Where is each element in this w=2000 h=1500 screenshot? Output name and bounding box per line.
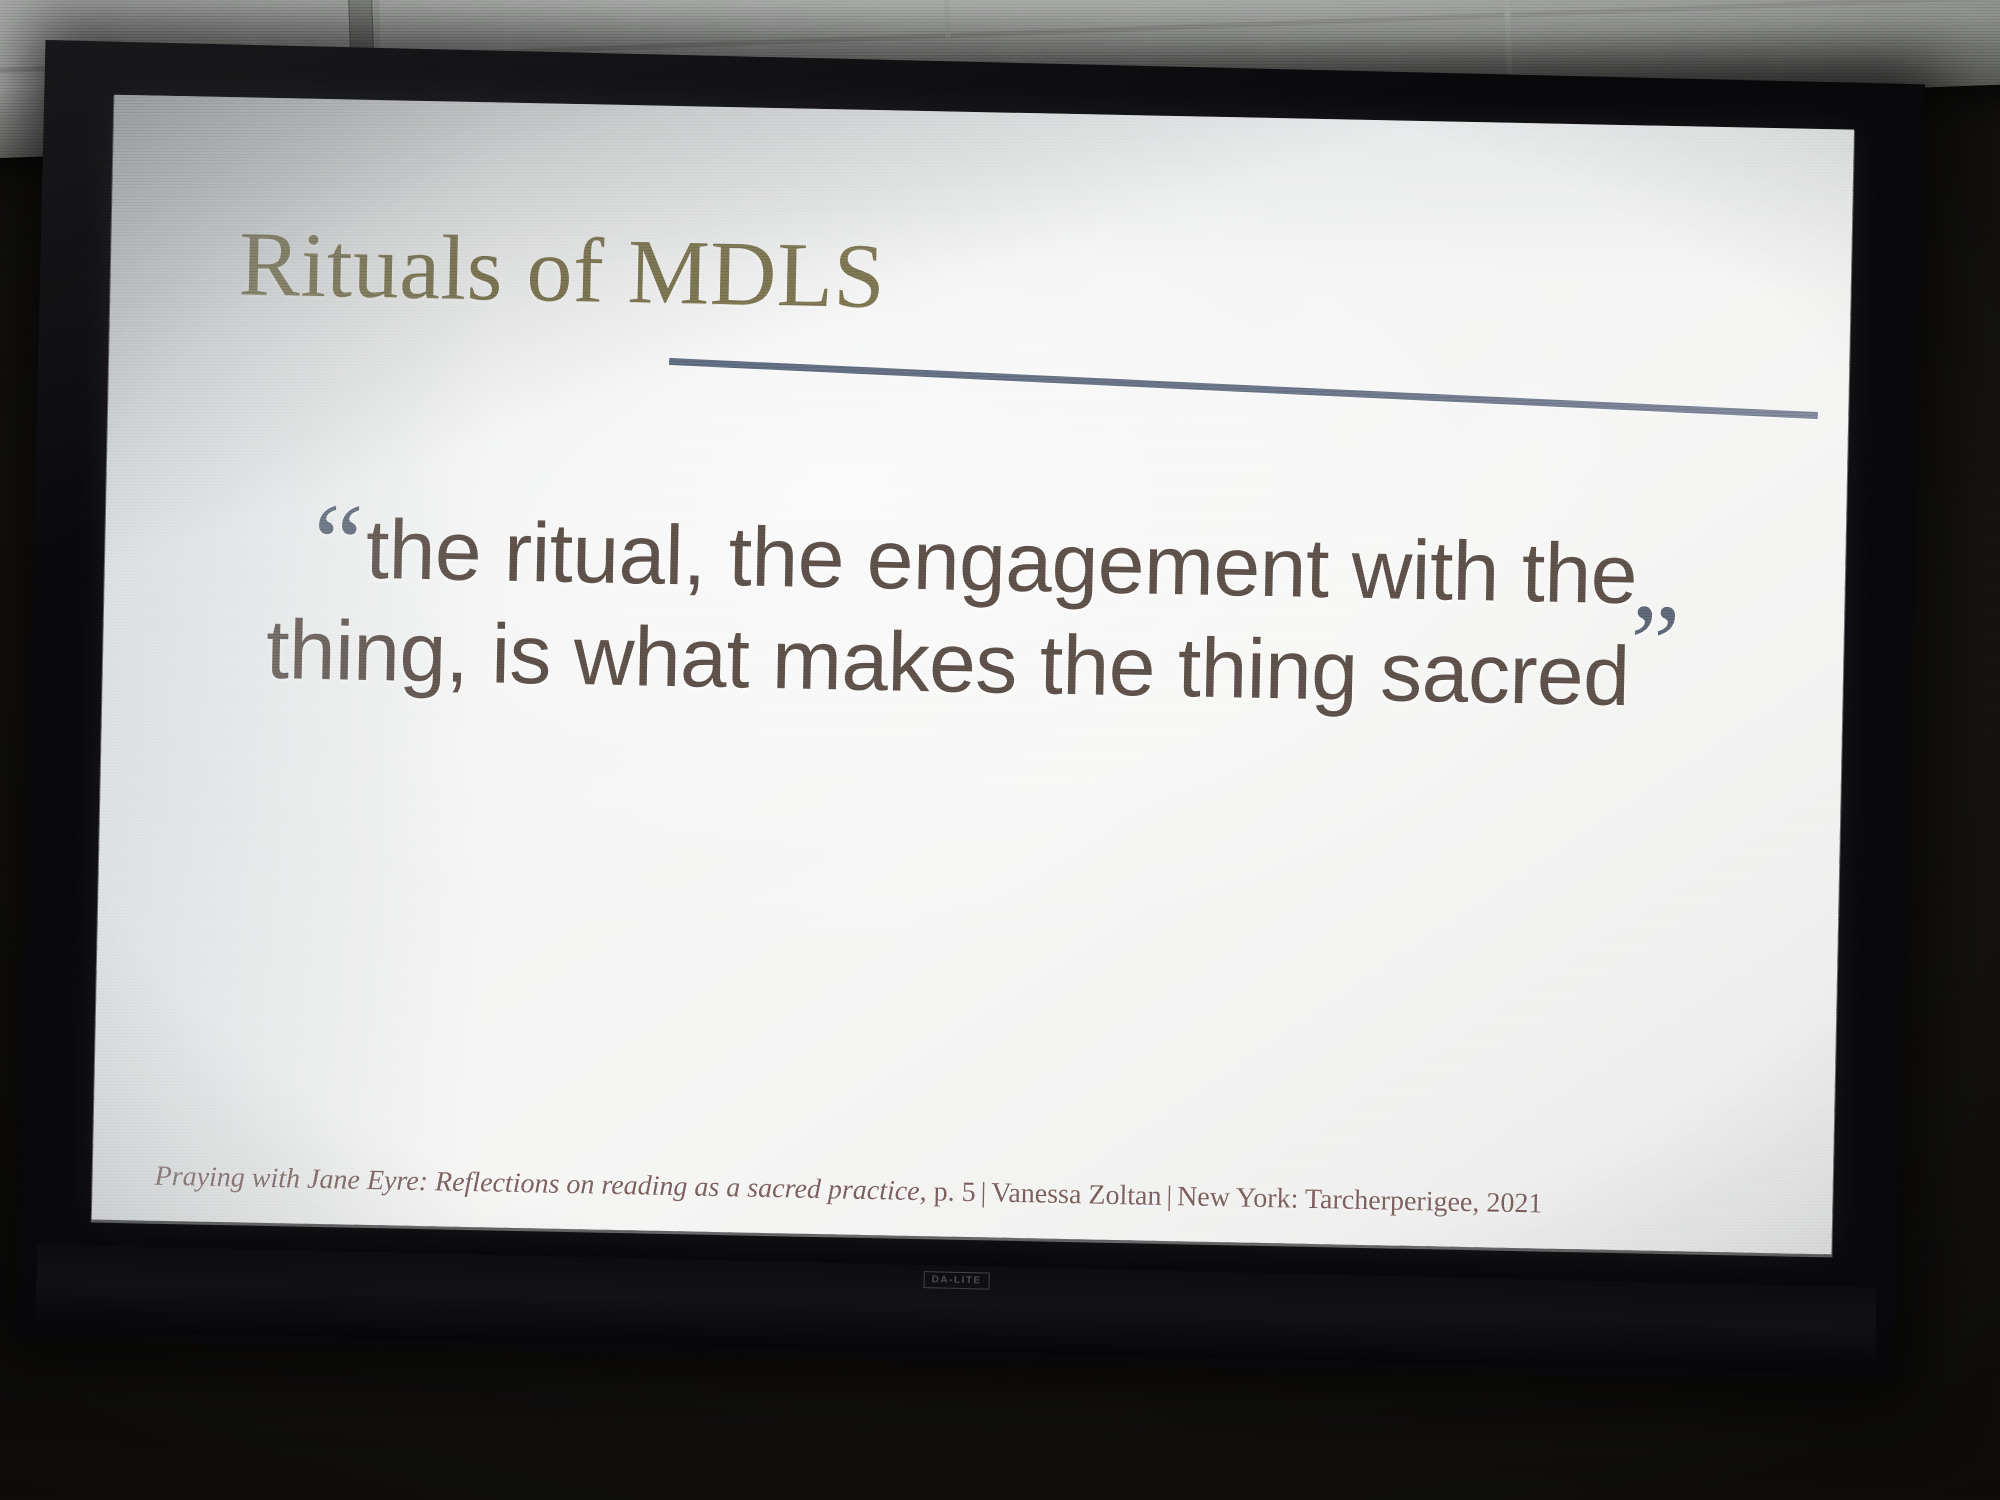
citation-separator: | <box>975 1177 991 1208</box>
slide-surface: Rituals of MDLS “the ritual, the engagem… <box>92 95 1854 1255</box>
slide-citation: Praying with Jane Eyre: Reflections on r… <box>154 1161 1542 1221</box>
quote-block: “the ritual, the engagement with the thi… <box>102 493 1846 733</box>
close-quote-icon: ” <box>1629 582 1682 707</box>
open-quote-icon: “ <box>312 481 365 606</box>
presentation-room-photo: Rituals of MDLS “the ritual, the engagem… <box>0 0 2000 1500</box>
slide-title: Rituals of MDLS <box>238 217 886 322</box>
citation-page: p. 5 <box>933 1176 976 1208</box>
projected-slide: Rituals of MDLS “the ritual, the engagem… <box>92 95 1854 1255</box>
citation-author: Vanessa Zoltan <box>991 1178 1162 1212</box>
citation-publication: New York: Tarcherperigee, 2021 <box>1177 1181 1543 1219</box>
projection-screen: Rituals of MDLS “the ritual, the engagem… <box>15 40 1925 1384</box>
title-underline-rule <box>669 358 1818 419</box>
citation-separator: | <box>1161 1181 1177 1212</box>
screen-brand-logo: DA-LITE <box>923 1271 989 1290</box>
citation-work-title: Praying with Jane Eyre: Reflections on r… <box>154 1161 927 1207</box>
